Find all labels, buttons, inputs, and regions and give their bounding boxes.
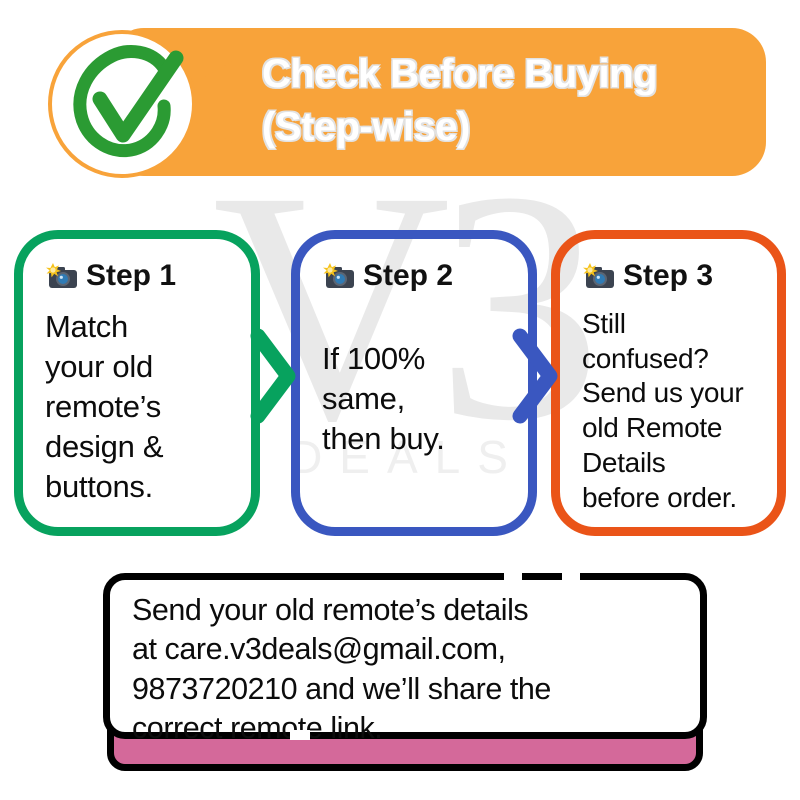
camera-with-flash-icon (322, 263, 356, 290)
green-check-circle-icon (48, 30, 196, 178)
step-1-body-line-3: remote’s (45, 389, 161, 424)
header-banner: Check Before Buying (Step-wise) (48, 28, 766, 176)
chevron-right-icon (506, 326, 562, 431)
chevron-right-icon (244, 326, 300, 431)
step-3-body-line-2: confused? (582, 343, 709, 374)
step-1-body-line-2: your old (45, 349, 153, 384)
step-3-body-line-4: old Remote (582, 412, 722, 443)
step-2-body-line-2: same, (322, 381, 405, 416)
step-2-heading-row: Step 2 (322, 261, 512, 291)
step-2-body: If 100% same, then buy. (322, 339, 512, 459)
callout-line-4: correct remote link. (132, 709, 698, 748)
step-1-body: Match your old remote’s design & buttons… (45, 307, 235, 507)
step-2-heading-label: Step 2 (363, 261, 453, 291)
step-1-body-line-5: buttons. (45, 469, 153, 504)
step-1-heading-row: Step 1 (45, 261, 235, 291)
infographic-canvas: V3 DEALS Check Before Buying (Step-wise) (0, 0, 800, 800)
camera-with-flash-icon (582, 263, 616, 290)
border-dash-gap (504, 572, 522, 582)
step-3-body-line-1: Still (582, 308, 626, 339)
contact-callout: Send your old remote’s details at care.v… (103, 573, 707, 779)
step-3-heading-label: Step 3 (623, 261, 713, 291)
callout-line-3: 9873720210 and we’ll share the (132, 670, 698, 709)
step-3-body-line-5: Details (582, 447, 666, 478)
camera-with-flash-icon (45, 263, 79, 290)
step-card-2: Step 2 If 100% same, then buy. (291, 230, 537, 536)
step-1-heading-label: Step 1 (86, 261, 176, 291)
step-2-body-line-1: If 100% (322, 341, 425, 376)
callout-panel: Send your old remote’s details at care.v… (103, 573, 707, 739)
step-3-heading-row: Step 3 (582, 261, 761, 291)
step-1-body-line-4: design & (45, 429, 163, 464)
page-title-line-1: Check Before Buying (262, 48, 762, 101)
step-card-1: Step 1 Match your old remote’s design & … (14, 230, 260, 536)
step-card-3: Step 3 Still confused? Send us your old … (551, 230, 786, 536)
step-3-body: Still confused? Send us your old Remote … (582, 307, 761, 515)
border-dash-gap (562, 572, 580, 582)
step-3-body-line-6: before order. (582, 482, 737, 513)
step-2-body-line-3: then buy. (322, 421, 445, 456)
border-dash-gap (290, 730, 310, 740)
callout-text: Send your old remote’s details at care.v… (132, 591, 698, 749)
page-title-line-2: (Step-wise) (262, 101, 762, 154)
step-3-body-line-3: Send us your (582, 377, 743, 408)
callout-line-1: Send your old remote’s details (132, 591, 698, 630)
step-1-body-line-1: Match (45, 309, 128, 344)
callout-line-2: at care.v3deals@gmail.com, (132, 630, 698, 669)
page-title: Check Before Buying (Step-wise) (262, 48, 762, 154)
